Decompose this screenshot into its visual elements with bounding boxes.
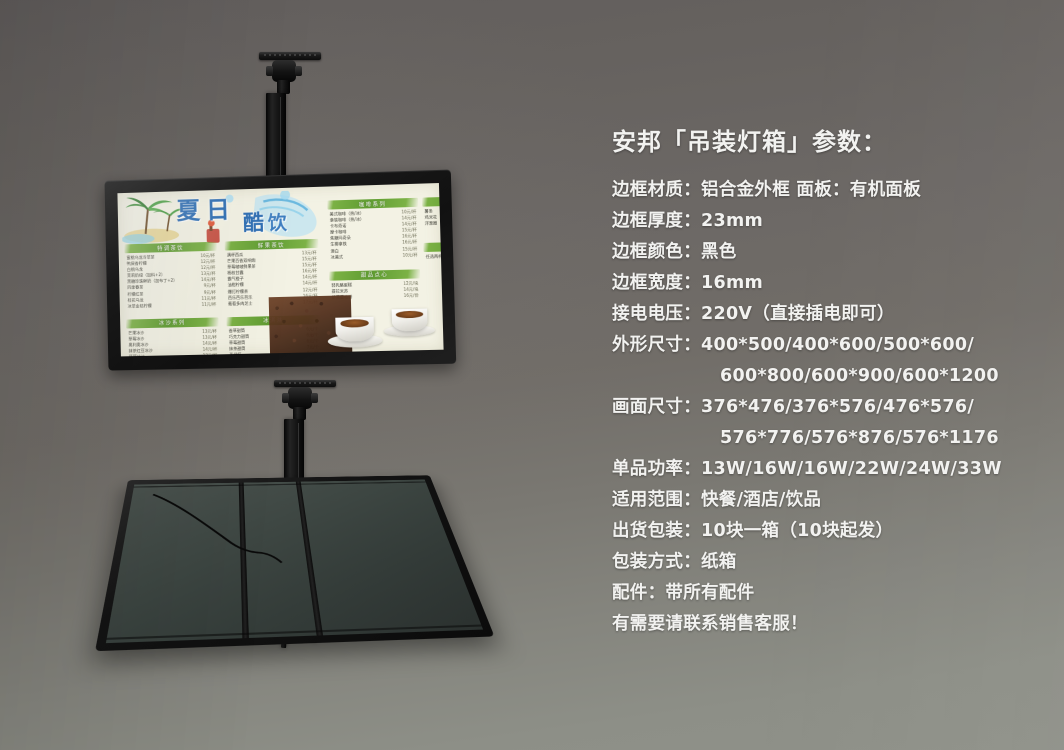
spec-line-frame-thickness: 边框厚度：23mm	[612, 206, 1052, 237]
spec-list: 边框材质：铝合金外框 面板：有机面板 边框厚度：23mm 边框颜色：黑色 边框宽…	[612, 175, 1052, 640]
menu-section-heading: 冰沙系列	[126, 317, 219, 328]
spec-line-outer-size-cont: 600*800/600*900/600*1200	[612, 361, 1052, 392]
spec-line-scope: 适用范围：快餐/酒店/饮品	[612, 485, 1052, 516]
spec-line-shipping-pack: 出货包装：10块一箱（10块起发）	[612, 516, 1052, 547]
menu-section-heading: 甜品点心	[329, 269, 420, 280]
spec-line-outer-size: 外形尺寸：400*500/400*600/500*600/	[612, 330, 1052, 361]
spec-line-picture-size-cont: 576*776/576*876/576*1176	[612, 423, 1052, 454]
spec-line-pack-method: 包装方式：纸箱	[612, 547, 1052, 578]
menu-item: 任选两杯立减5元	[424, 252, 444, 260]
menu-section-heading: 套餐优惠	[423, 241, 443, 252]
menu-item: 冰萃金桔柠檬11元/杯	[126, 301, 219, 309]
poster-title-char-2: 酷	[243, 212, 264, 234]
menu-section-items: 任选两杯立减5元	[424, 252, 444, 260]
menu-column-4: 小食 薯条9元/份 鸡米花12元/份 洋葱圈11元/份 套餐优惠 任选两杯立减5…	[422, 195, 444, 260]
lightbox-lit-panel: 夏 日 酷 饮 特调茶饮 蜜桃乌龙冷萃茶10元/杯 鸭屎香柠檬12元/杯	[117, 183, 443, 356]
menu-item: 洋葱圈11元/份	[423, 218, 444, 227]
ceiling-plate-lower	[274, 380, 336, 387]
spec-line-frame-color: 边框颜色：黑色	[612, 237, 1052, 268]
spec-line-picture-size: 画面尺寸：376*476/376*576/476*576/	[612, 392, 1052, 423]
lightbox-rear-frame	[95, 475, 494, 651]
specification-panel: 安邦「吊装灯箱」参数： 边框材质：铝合金外框 面板：有机面板 边框厚度：23mm…	[612, 122, 1052, 640]
power-cable	[106, 480, 483, 644]
drop-pole-upper	[266, 93, 286, 181]
poster-title-char-1: 日	[206, 198, 230, 223]
lightbox-aluminium-frame: 夏 日 酷 饮 特调茶饮 蜜桃乌龙冷萃茶10元/杯 鸭屎香柠檬12元/杯	[105, 170, 457, 371]
spec-line-contact: 有需要请联系销售客服！	[612, 609, 1052, 640]
menu-item: 冰美式10元/杯	[329, 252, 420, 261]
menu-grid: 特调茶饮 蜜桃乌龙冷萃茶10元/杯 鸭屎香柠檬12元/杯 白桃乌龙12元/杯 茉…	[119, 235, 444, 356]
spec-line-accessories: 配件：带所有配件	[612, 578, 1052, 609]
lightbox-front-view: 夏 日 酷 饮 特调茶饮 蜜桃乌龙冷萃茶10元/杯 鸭屎香柠檬12元/杯	[105, 170, 457, 371]
menu-section-items: 芒果冰沙13元/杯 草莓冰沙13元/杯 奥利奥冰沙14元/杯 抹茶红豆冰沙14元…	[126, 328, 219, 356]
spec-title: 安邦「吊装灯箱」参数：	[612, 122, 1052, 157]
menu-section-heading: 小食	[422, 195, 444, 207]
pivot-knuckle-lower	[288, 387, 312, 409]
coffee-cup-back	[392, 309, 428, 332]
menu-section-items: 薯条9元/份 鸡米花12元/份 洋葱圈11元/份	[422, 206, 443, 227]
lightbox-rear-view	[95, 475, 494, 651]
mount-neck-upper	[277, 80, 290, 94]
spec-line-voltage: 接电电压：220V（直接插电即可）	[612, 299, 1052, 330]
poster-title-char-3: 饮	[268, 214, 287, 234]
product-photo-scene: 夏 日 酷 饮 特调茶饮 蜜桃乌龙冷萃茶10元/杯 鸭屎香柠檬12元/杯	[0, 0, 1064, 750]
poster-title-char-0: 夏	[176, 199, 200, 224]
coffee-cup-front	[335, 317, 374, 342]
lightbox-rear-panel	[106, 480, 483, 644]
menu-section-items: 美式咖啡（热/冰）10元/杯 拿铁咖啡（热/冰）14元/杯 卡布奇诺14元/杯 …	[328, 209, 420, 261]
menu-section-heading: 特调茶饮	[124, 242, 217, 254]
ceiling-plate-upper	[259, 52, 321, 60]
menu-section-heading: 咖啡系列	[327, 198, 418, 210]
menu-item: 蓝莓冰沙13元/杯	[127, 353, 220, 357]
menu-column-1: 特调茶饮 蜜桃乌龙冷萃茶10元/杯 鸭屎香柠檬12元/杯 白桃乌龙12元/杯 茉…	[124, 242, 219, 357]
spec-line-frame-material: 边框材质：铝合金外框 面板：有机面板	[612, 175, 1052, 206]
coffee-photo	[268, 281, 443, 353]
spec-line-power: 单品功率：13W/16W/16W/22W/24W/33W	[612, 454, 1052, 485]
menu-section-heading: 鲜果茶饮	[225, 239, 319, 251]
spec-line-frame-width: 边框宽度：16mm	[612, 268, 1052, 299]
pivot-knuckle-upper	[272, 60, 296, 82]
menu-section-items: 蜜桃乌龙冷萃茶10元/杯 鸭屎香柠檬12元/杯 白桃乌龙12元/杯 茉莉奶绿（加…	[125, 253, 219, 310]
